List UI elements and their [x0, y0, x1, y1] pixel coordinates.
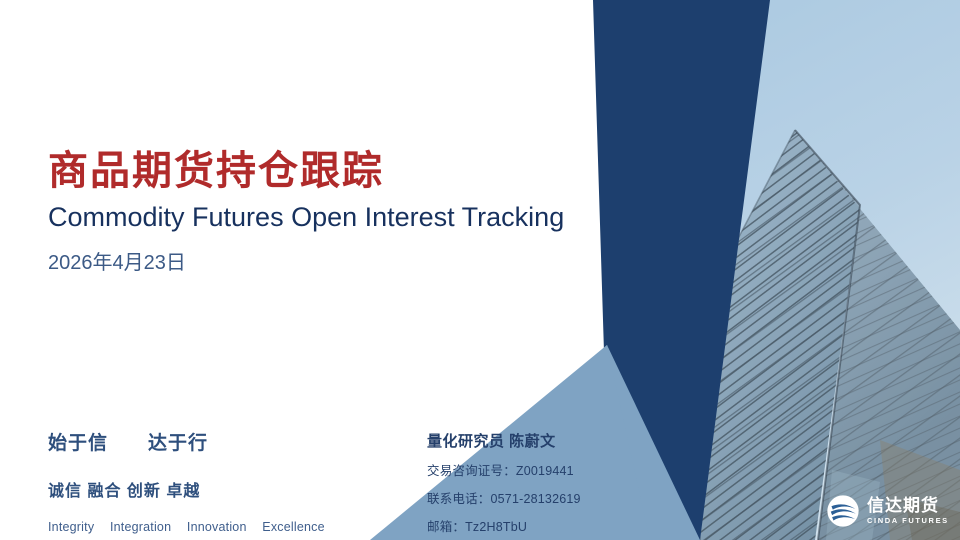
logo-name-en: CINDA FUTURES [867, 517, 949, 525]
page-title-en: Commodity Futures Open Interest Tracking [48, 201, 648, 233]
analyst-license: 交易咨询证号：Z0019441 [427, 460, 667, 479]
slogan-en-word-3: Innovation [187, 520, 247, 534]
analyst-phone: 联系电话：0571-28132619 [427, 488, 667, 507]
slogan-sub: 诚信 融合 创新 卓越 [48, 477, 398, 501]
logo-name-cn: 信达期货 [867, 497, 949, 514]
logo-text: 信达期货 CINDA FUTURES [867, 497, 949, 525]
slogan-main: 始于信 达于行 [48, 428, 398, 455]
title-block: 商品期货持仓跟踪 Commodity Futures Open Interest… [48, 148, 648, 275]
contact-block: 量化研究员 陈蔚文 交易咨询证号：Z0019441 联系电话：0571-2813… [427, 430, 667, 535]
slogan-block: 始于信 达于行 诚信 融合 创新 卓越 Integrity Integratio… [48, 428, 398, 534]
slogan-en-word-4: Excellence [262, 520, 324, 534]
analyst-name: 量化研究员 陈蔚文 [427, 430, 667, 451]
title-slide: 商品期货持仓跟踪 Commodity Futures Open Interest… [0, 0, 960, 540]
report-date: 2026年4月23日 [48, 251, 648, 275]
slogan-en: Integrity Integration Innovation Excelle… [48, 520, 398, 534]
cinda-swoosh-icon [826, 494, 860, 528]
analyst-email: 邮箱：Tz2H8TbU [427, 516, 667, 535]
company-logo: 信达期货 CINDA FUTURES [826, 494, 949, 528]
page-title-cn: 商品期货持仓跟踪 [48, 148, 648, 195]
slogan-en-word-1: Integrity [48, 520, 94, 534]
slogan-en-word-2: Integration [110, 520, 171, 534]
